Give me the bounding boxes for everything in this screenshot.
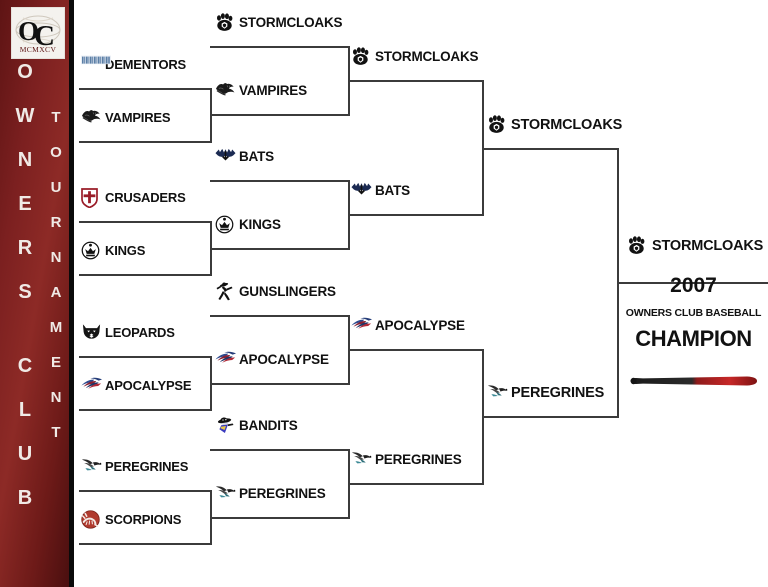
champion-title: CHAMPION bbox=[619, 326, 768, 352]
baseball-bat-icon bbox=[629, 374, 759, 388]
bracket-slot-round2-5[interactable]: GUNSLINGERS bbox=[215, 282, 336, 301]
banner-tournament-letter: M bbox=[50, 320, 63, 335]
bracket-slot-round1-4[interactable]: KINGS bbox=[81, 241, 145, 260]
dementors-wordmark-icon bbox=[81, 55, 100, 74]
banner-owners-letter: W bbox=[16, 106, 35, 126]
banner-tournament-letter: T bbox=[51, 425, 60, 440]
bracket-slot-round1-1[interactable]: DEMENTORS bbox=[81, 55, 186, 74]
falcon-icon bbox=[81, 457, 100, 476]
bracket-slot-round1-3[interactable]: CRUSADERS bbox=[81, 188, 186, 207]
bracket-slot-round2-6[interactable]: APOCALYPSE bbox=[215, 350, 329, 369]
connector bbox=[79, 221, 212, 223]
banner-owners-letter: C bbox=[18, 356, 32, 376]
connector bbox=[348, 214, 484, 216]
banner-owners-letter: E bbox=[18, 194, 31, 214]
connector bbox=[210, 449, 350, 451]
banner-tournament-letter: R bbox=[51, 215, 62, 230]
connector bbox=[482, 148, 619, 150]
falcon-icon bbox=[215, 484, 234, 503]
banner-owners-letter bbox=[22, 326, 28, 346]
banner-owners-letter: U bbox=[18, 444, 32, 464]
bracket-slot-round2-8[interactable]: PEREGRINES bbox=[215, 484, 326, 503]
champion-team-label: STORMCLOAKS bbox=[652, 238, 763, 254]
connector bbox=[210, 517, 350, 519]
bats-pair-icon bbox=[215, 147, 234, 166]
team-name-label: BATS bbox=[375, 183, 410, 198]
connector bbox=[210, 46, 350, 48]
crest-monogram-icon: O C bbox=[13, 12, 63, 50]
team-name-label: PEREGRINES bbox=[105, 459, 188, 474]
bracket-slot-round3-1[interactable]: STORMCLOAKS bbox=[351, 47, 478, 66]
banner-owners-letter: O bbox=[17, 62, 33, 82]
bracket-slot-round2-1[interactable]: STORMCLOAKS bbox=[215, 13, 342, 32]
gunslinger-icon bbox=[215, 282, 234, 301]
bracket-slot-round1-6[interactable]: APOCALYPSE bbox=[81, 376, 191, 395]
bat-icon bbox=[81, 108, 100, 127]
banner-tournament-letter: A bbox=[51, 285, 62, 300]
banner-owners-club-text: OWNERS CLUB bbox=[8, 62, 42, 532]
team-name-label: BATS bbox=[239, 149, 274, 164]
team-name-label: KINGS bbox=[239, 217, 281, 232]
team-name-label: PEREGRINES bbox=[511, 385, 604, 401]
bracket-page: O C MCMXCV OWNERS CLUB TOURNAMENT bbox=[0, 0, 768, 587]
wings-icon bbox=[81, 376, 100, 395]
team-name-label: VAMPIRES bbox=[239, 83, 307, 98]
bracket-slot-round4-1[interactable]: STORMCLOAKS bbox=[487, 115, 622, 134]
bat-icon bbox=[215, 81, 234, 100]
banner-owners-letter: L bbox=[19, 400, 31, 420]
connector bbox=[210, 180, 350, 182]
falcon-icon bbox=[487, 383, 506, 402]
bracket-slot-round1-8[interactable]: SCORPIONS bbox=[81, 510, 181, 529]
connector bbox=[79, 88, 212, 90]
bracket-slot-round2-4[interactable]: KINGS bbox=[215, 215, 281, 234]
bear-paw-icon bbox=[627, 236, 646, 255]
banner-tournament-letter: T bbox=[51, 110, 60, 125]
bracket-slot-round1-7[interactable]: PEREGRINES bbox=[81, 457, 188, 476]
banner-tournament-letter: N bbox=[51, 390, 62, 405]
champion-panel: STORMCLOAKS 2007 OWNERS CLUB BASEBALL CH… bbox=[619, 226, 768, 418]
connector bbox=[79, 409, 212, 411]
owners-club-crest-logo: O C MCMXCV bbox=[11, 7, 65, 59]
bear-paw-icon bbox=[487, 115, 506, 134]
team-name-label: KINGS bbox=[105, 243, 145, 258]
bracket-slot-round2-2[interactable]: VAMPIRES bbox=[215, 81, 307, 100]
champion-team: STORMCLOAKS bbox=[627, 236, 763, 255]
connector bbox=[79, 490, 212, 492]
banner-owners-letter: B bbox=[18, 488, 32, 508]
connector bbox=[210, 315, 350, 317]
champion-year: 2007 bbox=[619, 274, 768, 298]
team-name-label: STORMCLOAKS bbox=[375, 49, 478, 64]
connector bbox=[79, 543, 212, 545]
bracket-slot-round1-2[interactable]: VAMPIRES bbox=[81, 108, 170, 127]
team-name-label: GUNSLINGERS bbox=[239, 284, 336, 299]
connector bbox=[210, 114, 350, 116]
banner-owners-letter: N bbox=[18, 150, 32, 170]
team-name-label: BANDITS bbox=[239, 418, 298, 433]
connector bbox=[210, 248, 350, 250]
team-name-label: STORMCLOAKS bbox=[511, 117, 622, 133]
connector bbox=[210, 383, 350, 385]
banner-tournament-text: TOURNAMENT bbox=[42, 110, 70, 460]
banner-owners-letter: S bbox=[18, 282, 31, 302]
team-name-label: PEREGRINES bbox=[239, 486, 326, 501]
team-name-label: DEMENTORS bbox=[105, 57, 186, 72]
team-name-label: CRUSADERS bbox=[105, 190, 186, 205]
shield-cross-icon bbox=[81, 188, 100, 207]
falcon-icon bbox=[351, 450, 370, 469]
bear-paw-icon bbox=[351, 47, 370, 66]
bracket-slot-round4-2[interactable]: PEREGRINES bbox=[487, 383, 604, 402]
leopard-head-icon bbox=[81, 323, 100, 342]
scorpion-icon bbox=[81, 510, 100, 529]
bats-pair-icon bbox=[351, 181, 370, 200]
connector bbox=[79, 141, 212, 143]
team-name-label: APOCALYPSE bbox=[105, 378, 191, 393]
wings-icon bbox=[215, 350, 234, 369]
team-name-label: LEOPARDS bbox=[105, 325, 175, 340]
bear-paw-icon bbox=[215, 13, 234, 32]
banner-tournament-letter: E bbox=[51, 355, 61, 370]
banner-tournament-letter: U bbox=[51, 180, 62, 195]
bracket-slot-round2-7[interactable]: BANDITS bbox=[215, 416, 298, 435]
banner-tournament-letter: N bbox=[51, 250, 62, 265]
team-name-label: PEREGRINES bbox=[375, 452, 462, 467]
svg-text:C: C bbox=[34, 20, 55, 50]
team-name-label: SCORPIONS bbox=[105, 512, 181, 527]
crown-circle-icon bbox=[215, 215, 234, 234]
bracket-slot-round1-5[interactable]: LEOPARDS bbox=[81, 323, 175, 342]
champion-subtitle: OWNERS CLUB BASEBALL bbox=[619, 307, 768, 319]
connector bbox=[79, 274, 212, 276]
connector bbox=[482, 416, 619, 418]
bandit-icon bbox=[215, 416, 234, 435]
connector bbox=[348, 349, 484, 351]
bracket-slot-round3-2[interactable]: BATS bbox=[351, 181, 410, 200]
title-banner: O C MCMXCV OWNERS CLUB TOURNAMENT bbox=[0, 0, 74, 587]
bracket-slot-round2-3[interactable]: BATS bbox=[215, 147, 274, 166]
team-name-label: STORMCLOAKS bbox=[239, 15, 342, 30]
connector bbox=[348, 483, 484, 485]
team-name-label: APOCALYPSE bbox=[239, 352, 329, 367]
wings-icon bbox=[351, 316, 370, 335]
team-name-label: VAMPIRES bbox=[105, 110, 170, 125]
banner-tournament-letter: O bbox=[50, 145, 62, 160]
connector bbox=[348, 80, 484, 82]
crown-circle-icon bbox=[81, 241, 100, 260]
bracket-slot-round3-4[interactable]: PEREGRINES bbox=[351, 450, 462, 469]
connector bbox=[79, 356, 212, 358]
banner-owners-letter: R bbox=[18, 238, 32, 258]
team-name-label: APOCALYPSE bbox=[375, 318, 465, 333]
bracket-slot-round3-3[interactable]: APOCALYPSE bbox=[351, 316, 465, 335]
